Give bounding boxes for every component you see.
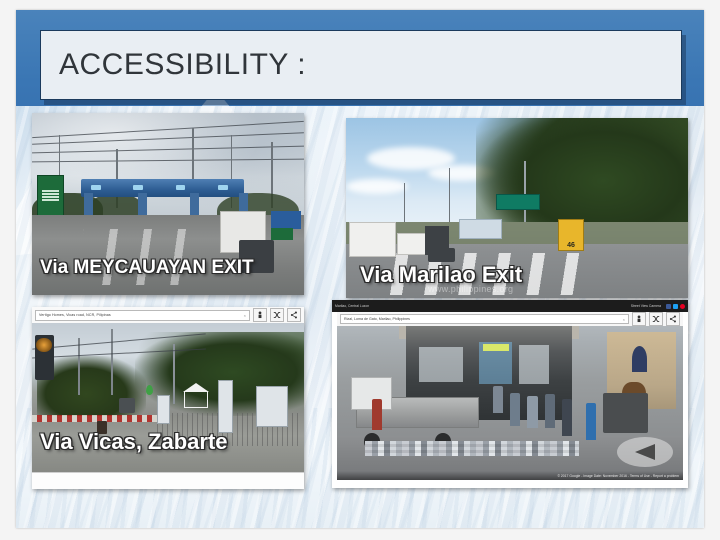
traffic-lamp bbox=[36, 338, 51, 352]
clear-icon[interactable]: × bbox=[623, 317, 625, 322]
photo-marilao: 46 Via Marilao Exit www.philippines.org bbox=[346, 118, 688, 298]
pinterest-icon[interactable] bbox=[680, 304, 685, 309]
attribution-text: © 2017 Google - Image Date: November 201… bbox=[557, 474, 679, 478]
share-icon[interactable] bbox=[666, 312, 680, 326]
streetview-image[interactable]: Rizal, Loma de Gato, Marilao, Philippine… bbox=[337, 312, 683, 480]
route-number: 46 bbox=[567, 242, 575, 249]
flatbed-truck bbox=[351, 376, 482, 450]
twitter-icon[interactable] bbox=[673, 304, 678, 309]
photo-vicas-zabarte: Vertigo Homes, Vicas road, NCR, Pilipina… bbox=[32, 307, 304, 489]
share-icon[interactable] bbox=[287, 308, 301, 322]
screenshot-page: ACCESSIBILITY : bbox=[0, 0, 720, 540]
search-value: Rizal, Loma de Gato, Marilao, Philippine… bbox=[344, 317, 410, 321]
slide-title-box: ACCESSIBILITY : bbox=[40, 30, 682, 100]
redacted-text-overlay bbox=[365, 441, 580, 456]
route-marker-46: 46 bbox=[558, 219, 584, 251]
person bbox=[586, 403, 596, 440]
person bbox=[510, 393, 520, 427]
person bbox=[562, 399, 572, 436]
person bbox=[372, 399, 382, 429]
person bbox=[527, 396, 537, 428]
search-value: Vertigo Homes, Vicas road, NCR, Pilipina… bbox=[39, 313, 111, 317]
streetview-toolbar: Vertigo Homes, Vicas road, NCR, Pilipina… bbox=[32, 307, 304, 323]
person bbox=[493, 386, 503, 413]
map-pin-icon bbox=[146, 385, 153, 395]
streetview-bottom-bar bbox=[32, 472, 304, 489]
social-icons: Street View Camera bbox=[631, 304, 685, 309]
chrome-right-title: Street View Camera bbox=[631, 304, 661, 308]
roadside-sign bbox=[157, 395, 170, 424]
shuffle-icon[interactable] bbox=[270, 308, 284, 322]
photo-meycauayan: Via MEYCAUAYAN EXIT bbox=[32, 113, 304, 295]
page-title: ACCESSIBILITY : bbox=[41, 48, 306, 82]
clear-icon[interactable]: × bbox=[244, 313, 246, 318]
vehicle bbox=[119, 398, 135, 413]
house-outline-icon bbox=[184, 391, 208, 408]
toll-gantry bbox=[81, 179, 244, 197]
pegman-icon[interactable] bbox=[632, 312, 646, 326]
photo-caption: Via MEYCAUAYAN EXIT bbox=[40, 257, 254, 279]
presentation-slide: ACCESSIBILITY : bbox=[16, 10, 704, 528]
roadside-sign bbox=[218, 380, 234, 433]
photo-loma-de-gato: Marilao, Central Luzon Street View Camer… bbox=[332, 300, 688, 488]
pegman-icon[interactable] bbox=[253, 308, 267, 322]
streetview-toolbar: Rizal, Loma de Gato, Marilao, Philippine… bbox=[337, 312, 683, 326]
overhead-green-sign bbox=[496, 194, 539, 210]
truck bbox=[349, 222, 395, 256]
attribution-bar: © 2017 Google - Image Date: November 201… bbox=[337, 471, 683, 480]
facebook-icon[interactable] bbox=[666, 304, 671, 309]
billboard bbox=[459, 219, 502, 239]
roadside-sign bbox=[256, 386, 288, 427]
chrome-title: Marilao, Central Luzon bbox=[335, 304, 369, 308]
browser-chrome-bar: Marilao, Central Luzon Street View Camer… bbox=[332, 300, 688, 312]
tricycle bbox=[603, 393, 648, 433]
car bbox=[428, 248, 455, 262]
photo-caption: Via Vicas, Zabarte bbox=[40, 429, 228, 455]
painted-kerb bbox=[32, 415, 157, 423]
green-road-sign bbox=[271, 228, 293, 241]
search-input[interactable]: Vertigo Homes, Vicas road, NCR, Pilipina… bbox=[35, 310, 250, 321]
stop-at-toll-sign bbox=[37, 175, 63, 217]
watermark: www.philippines.org bbox=[428, 284, 513, 294]
search-input[interactable]: Rizal, Loma de Gato, Marilao, Philippine… bbox=[340, 314, 629, 324]
truck bbox=[397, 233, 426, 255]
person bbox=[545, 394, 555, 428]
compass-arrow-icon[interactable] bbox=[617, 437, 673, 467]
shuffle-icon[interactable] bbox=[649, 312, 663, 326]
